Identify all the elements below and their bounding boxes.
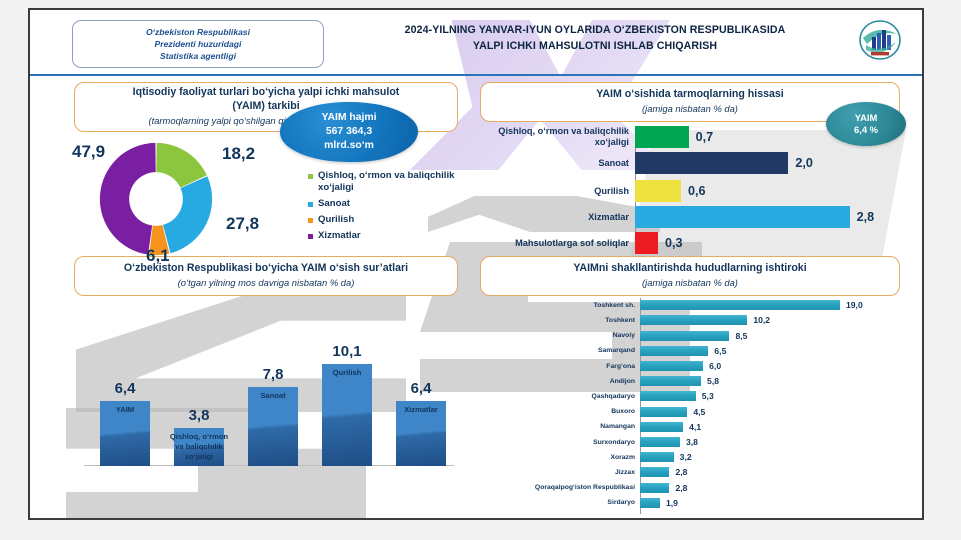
- region-bar-value: 5,3: [702, 391, 714, 401]
- region-bar: [640, 376, 701, 386]
- growth-bar-label: Qishloq, o‘rmon va baliqchilik xo‘jaligi: [165, 432, 233, 462]
- contribution-bar-label: Mahsulotlarga sof soliqlar: [480, 238, 635, 249]
- contribution-bar-value: 0,3: [665, 236, 683, 250]
- legend-item: Qurilish: [308, 214, 468, 226]
- region-bar-value: 2,8: [675, 483, 687, 493]
- contribution-bar-label: Qishloq, o‘rmon va baliqchilik xo‘jaligi: [480, 126, 635, 148]
- regions-subtitle: (jamiga nisbatan % da): [642, 277, 738, 290]
- donut-value-qishloq: 18,2: [222, 144, 255, 164]
- contribution-bar-value: 0,6: [688, 184, 706, 198]
- region-bar-label: Toshkent sh.: [480, 302, 640, 309]
- region-bar-value: 5,8: [707, 376, 719, 386]
- region-bar-row: Samarqand6,5: [480, 344, 900, 359]
- region-bar: [640, 452, 674, 462]
- agency-line-1: O‘zbekiston Respublikasi: [146, 26, 250, 38]
- region-bar: [640, 391, 696, 401]
- region-bar-label: Samarqand: [480, 347, 640, 354]
- donut-value-qurilish: 6,1: [146, 246, 170, 266]
- region-bar: [640, 407, 687, 417]
- region-bar-label: Namangan: [480, 423, 640, 430]
- region-bar-row: Sirdaryo1,9: [480, 496, 900, 511]
- gdp-volume-badge: YAIM hajmi 567 364,3 mlrd.so‘m: [280, 102, 418, 162]
- region-bar: [640, 467, 669, 477]
- contribution-bar: [635, 232, 658, 254]
- growth-bar-value: 10,1: [322, 343, 372, 360]
- region-bar: [640, 331, 729, 341]
- infographic-slide: O‘zbekiston Respublikasi Prezidenti huzu…: [28, 8, 924, 520]
- gdp-structure-donut-chart: 47,9 18,2 27,8 6,1: [74, 138, 274, 258]
- region-bar-label: Andijon: [480, 378, 640, 385]
- sector-contribution-chart: Qishloq, o‘rmon va baliqchilik xo‘jaligi…: [480, 126, 900, 252]
- region-bar: [640, 498, 660, 508]
- legend-item: Xizmatlar: [308, 230, 468, 242]
- region-bar: [640, 346, 708, 356]
- growth-bar-column: 7,8Sanoat: [248, 387, 298, 466]
- contribution-bar-row: Sanoat2,0: [480, 152, 900, 174]
- region-bar-row: Namangan4,1: [480, 420, 900, 435]
- region-bar-value: 10,2: [753, 315, 770, 325]
- page-title-line-2: YALPI ICHKI MAHSULOTNI ISHLAB CHIQARISH: [330, 38, 860, 54]
- contribution-bar: [635, 152, 788, 174]
- donut-svg: [88, 138, 224, 260]
- page-title-line-1: 2024-YILNING YANVAR-IYUN OYLARIDA O‘ZBEK…: [330, 22, 860, 38]
- gdp-volume-value: 567 364,3: [321, 125, 376, 139]
- region-bar-value: 8,5: [735, 331, 747, 341]
- agency-box: O‘zbekiston Respublikasi Prezidenti huzu…: [72, 20, 324, 68]
- region-bar: [640, 300, 840, 310]
- gdp-volume-label: YAIM hajmi: [321, 111, 376, 125]
- growth-bar-column: 3,8Qishloq, o‘rmon va baliqchilik xo‘jal…: [174, 428, 224, 466]
- contribution-bar-row: Xizmatlar2,8: [480, 206, 900, 228]
- contribution-bar-value: 2,0: [795, 156, 813, 170]
- contribution-subtitle: (jamiga nisbatan % da): [642, 103, 738, 116]
- yaim-growth-badge: YAIM 6,4 %: [826, 102, 906, 146]
- legend-swatch-icon: [308, 174, 313, 179]
- panel-title-regions: YAIMni shakllantirishda hududlarning ish…: [480, 256, 900, 296]
- legend-item: Qishloq, o‘rmon va baliqchilik xo‘jaligi: [308, 170, 468, 194]
- agency-line-2: Prezidenti huzuridagi: [155, 38, 242, 50]
- growth-bar-column: 6,4YAIM: [100, 401, 150, 466]
- region-bar-label: Navoiy: [480, 332, 640, 339]
- contribution-bar-row: Qurilish0,6: [480, 180, 900, 202]
- agency-line-3: Statistika agentligi: [160, 50, 236, 62]
- growth-bar-value: 6,4: [396, 380, 446, 397]
- donut-legend: Qishloq, o‘rmon va baliqchilik xo‘jaligi…: [308, 170, 468, 245]
- region-bar-row: Toshkent sh.19,0: [480, 298, 900, 313]
- growth-bar-label: Xizmatlar: [387, 405, 455, 415]
- region-bar-label: Farg‘ona: [480, 363, 640, 370]
- donut-value-xizmatlar: 47,9: [72, 142, 105, 162]
- structure-title-line-2: (YAIM) tarkibi: [232, 100, 299, 114]
- page-title: 2024-YILNING YANVAR-IYUN OYLARIDA O‘ZBEK…: [330, 22, 860, 55]
- region-bar-label: Xorazm: [480, 454, 640, 461]
- contribution-bar-label: Xizmatlar: [480, 212, 635, 223]
- legend-swatch-icon: [308, 218, 313, 223]
- slide-header: O‘zbekiston Respublikasi Prezidenti huzu…: [30, 10, 922, 76]
- legend-item: Sanoat: [308, 198, 468, 210]
- region-bar-label: Surxondaryo: [480, 439, 640, 446]
- region-bar-label: Buxoro: [480, 408, 640, 415]
- legend-label: Xizmatlar: [318, 230, 361, 242]
- region-bar-row: Navoiy8,5: [480, 328, 900, 343]
- growth-subtitle: (o‘tgan yilning mos davriga nisbatan % d…: [178, 277, 355, 290]
- region-bar-row: Surxondaryo3,8: [480, 435, 900, 450]
- structure-title-line-1: Iqtisodiy faoliyat turlari bo‘yicha yalp…: [133, 86, 400, 100]
- growth-bar-label: YAIM: [91, 405, 159, 415]
- region-bar-value: 3,8: [686, 437, 698, 447]
- growth-bar-value: 7,8: [248, 366, 298, 383]
- legend-label: Qishloq, o‘rmon va baliqchilik xo‘jaligi: [318, 170, 468, 194]
- region-bar-value: 1,9: [666, 498, 678, 508]
- region-bar-value: 3,2: [680, 452, 692, 462]
- region-bar: [640, 483, 669, 493]
- growth-bar: [322, 364, 372, 466]
- region-bar-label: Sirdaryo: [480, 499, 640, 506]
- region-bar-value: 6,5: [714, 346, 726, 356]
- region-bar-row: Toshkent10,2: [480, 313, 900, 328]
- growth-bar-column: 6,4Xizmatlar: [396, 401, 446, 466]
- region-bar-value: 19,0: [846, 300, 863, 310]
- growth-bar-value: 3,8: [174, 407, 224, 424]
- region-bar-label: Qoraqalpog‘iston Respublikasi: [480, 484, 640, 491]
- contribution-bar: [635, 126, 689, 148]
- region-bar: [640, 315, 747, 325]
- region-bar-row: Xorazm3,2: [480, 450, 900, 465]
- region-bar: [640, 437, 680, 447]
- legend-swatch-icon: [308, 234, 313, 239]
- region-bar-row: Andijon5,8: [480, 374, 900, 389]
- donut-value-sanoat: 27,8: [226, 214, 259, 234]
- panel-title-growth: O‘zbekiston Respublikasi bo‘yicha YAIM o…: [74, 256, 458, 296]
- header-divider: [30, 74, 922, 76]
- legend-swatch-icon: [308, 202, 313, 207]
- region-bar-value: 4,1: [689, 422, 701, 432]
- contribution-bar-label: Sanoat: [480, 158, 635, 169]
- growth-bar-column: 10,1Qurilish: [322, 364, 372, 466]
- growth-bar-label: Qurilish: [313, 368, 381, 378]
- gdp-growth-chart: 6,4YAIM3,8Qishloq, o‘rmon va baliqchilik…: [74, 302, 458, 514]
- region-bar-label: Qashqadaryo: [480, 393, 640, 400]
- growth-bar-label: Sanoat: [239, 391, 307, 401]
- yaim-badge-label: YAIM: [855, 112, 878, 124]
- contribution-bar-label: Qurilish: [480, 186, 635, 197]
- contribution-bar-row: Mahsulotlarga sof soliqlar0,3: [480, 232, 900, 254]
- contribution-bar-value: 2,8: [857, 210, 875, 224]
- region-bar-row: Qashqadaryo5,3: [480, 389, 900, 404]
- region-bar: [640, 422, 683, 432]
- legend-label: Sanoat: [318, 198, 350, 210]
- contribution-bar-value: 0,7: [696, 130, 714, 144]
- region-bar-value: 6,0: [709, 361, 721, 371]
- region-bar-value: 4,5: [693, 407, 705, 417]
- contribution-title: YAIM o‘sishida tarmoqlarning hissasi: [596, 88, 783, 102]
- region-bar-label: Jizzax: [480, 469, 640, 476]
- contribution-bar: [635, 180, 681, 202]
- region-bar-row: Jizzax2,8: [480, 465, 900, 480]
- contribution-bar: [635, 206, 850, 228]
- regions-share-chart: Toshkent sh.19,0Toshkent10,2Navoiy8,5Sam…: [480, 298, 900, 514]
- region-bar-row: Qoraqalpog‘iston Respublikasi2,8: [480, 480, 900, 495]
- growth-bar-value: 6,4: [100, 380, 150, 397]
- regions-title: YAIMni shakllantirishda hududlarning ish…: [573, 262, 806, 276]
- statistics-agency-logo-icon: [858, 18, 902, 62]
- legend-label: Qurilish: [318, 214, 354, 226]
- region-bar-label: Toshkent: [480, 317, 640, 324]
- region-bar-row: Buxoro4,5: [480, 404, 900, 419]
- region-bar-row: Farg‘ona6,0: [480, 359, 900, 374]
- gdp-volume-unit: mlrd.so‘m: [321, 139, 376, 153]
- region-bar-value: 2,8: [675, 467, 687, 477]
- yaim-badge-value: 6,4 %: [854, 124, 878, 136]
- region-bar: [640, 361, 703, 371]
